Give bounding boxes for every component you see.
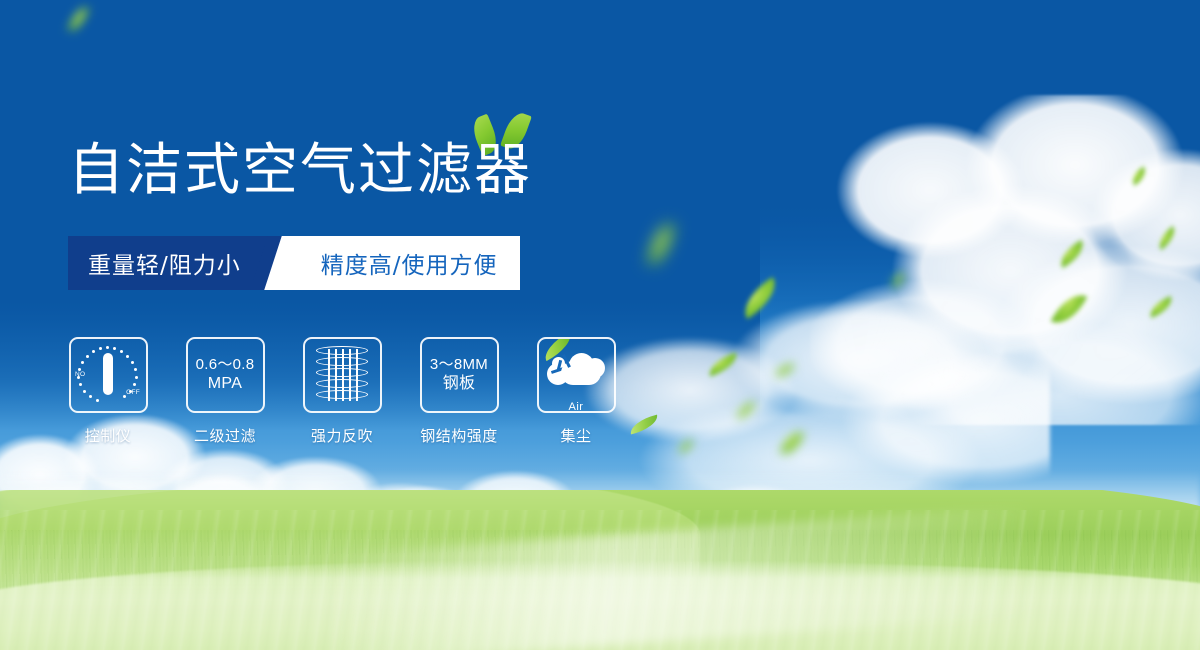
feature-icon-box: NO OFF [69,337,148,413]
feature-item-backblow[interactable]: 强力反吹 [302,337,382,446]
page-title: 自洁式空气过滤器 [68,143,532,199]
air-label: Air [545,401,607,413]
pressure-unit: MPA [196,374,255,393]
feature-label: 强力反吹 [311,425,373,446]
grass-field [0,490,1200,650]
feature-item-dust-collection[interactable]: Air 集尘 [536,337,616,446]
feature-list: NO OFF 控制仪 0.6～0.8 MPA 二级过滤 [68,337,616,446]
feature-icon-box: 3～8MM 钢板 [420,337,499,413]
feature-label: 钢结构强度 [420,425,498,446]
gauge-needle [103,353,113,395]
badge-label: 重量轻/阻力小 [88,246,241,280]
feature-item-controller[interactable]: NO OFF 控制仪 [68,337,148,446]
feature-label: 集尘 [560,425,591,446]
filter-cartridge-icon [316,346,368,404]
steel-plate-word: 钢板 [430,374,488,393]
product-banner: 自洁式空气过滤器 重量轻/阻力小 精度高/使用方便 [0,0,1200,650]
badge-precision-convenience: 精度高/使用方便 [289,236,520,290]
pressure-range: 0.6～0.8 [196,356,255,374]
tagline-badges: 重量轻/阻力小 精度高/使用方便 [68,236,520,290]
pressure-text-icon: 0.6～0.8 MPA [196,356,255,393]
feature-item-two-stage-filter[interactable]: 0.6～0.8 MPA 二级过滤 [185,337,265,446]
gauge-label-off: OFF [126,389,140,396]
feature-label: 控制仪 [85,425,132,446]
feature-icon-box [303,337,382,413]
feature-label: 二级过滤 [194,425,256,446]
gauge-dial-icon: NO OFF [75,344,141,406]
cloud-puff [585,358,605,378]
cloud-air-icon: Air [545,349,607,401]
feature-icon-box: 0.6～0.8 MPA [186,337,265,413]
steel-plate-text-icon: 3～8MM 钢板 [430,356,488,393]
feature-item-steel-strength[interactable]: 3～8MM 钢板 钢结构强度 [419,337,499,446]
badge-label: 精度高/使用方便 [321,246,498,280]
steel-thickness: 3～8MM [430,356,488,374]
feature-icon-box: Air [537,337,616,413]
gauge-label-no: NO [75,371,85,378]
badge-weight-resistance: 重量轻/阻力小 [68,236,275,290]
